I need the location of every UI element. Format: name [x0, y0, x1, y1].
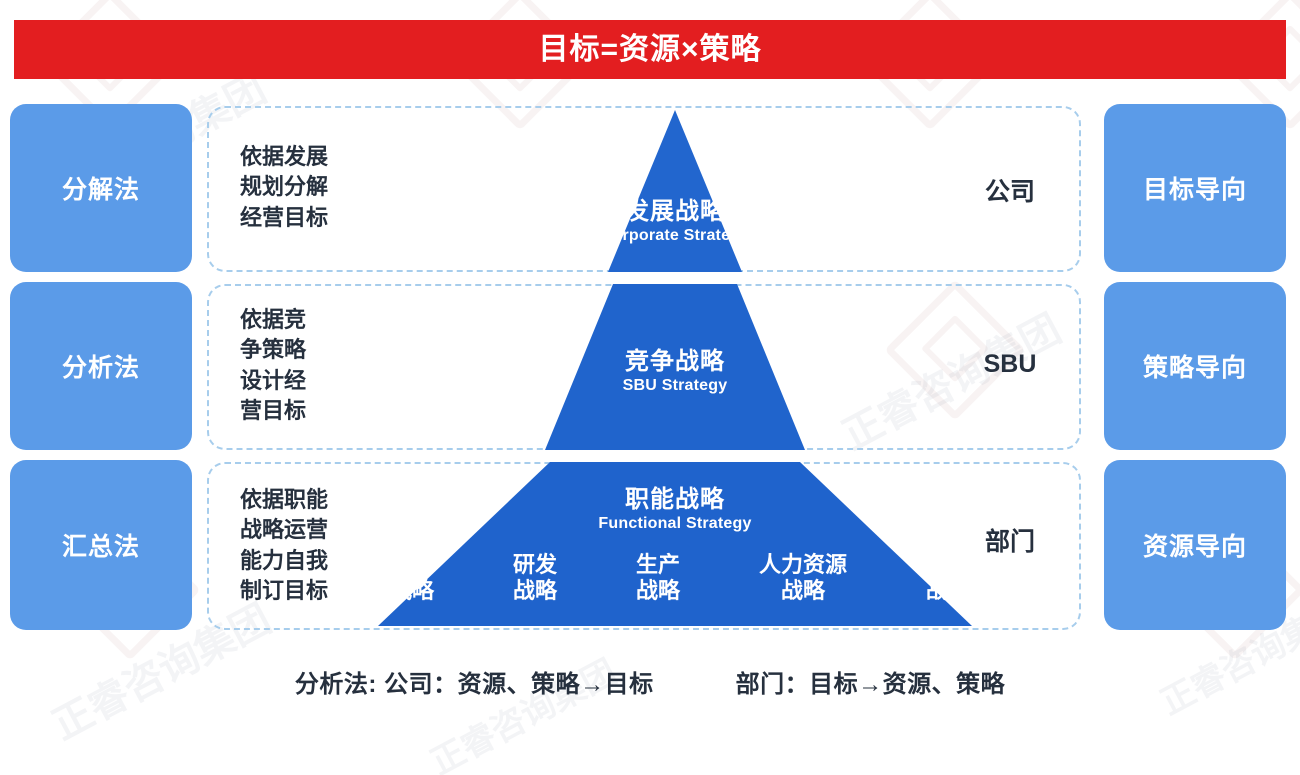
footer-note: 分析法: 公司：资源、策略→目标 部门：目标→资源、策略: [0, 664, 1300, 699]
level-label-company: 公司: [950, 172, 1070, 208]
description-text-2: 依据竞 争策略 设计经 营目标: [240, 305, 400, 426]
tier-title-cn: 竞争战略: [515, 348, 835, 376]
right-orientation-box-3[interactable]: 资源导向: [1104, 460, 1286, 630]
description-text-3: 依据职能 战略运营 能力自我 制订目标: [240, 485, 400, 606]
right-orientation-box-1[interactable]: 目标导向: [1104, 104, 1286, 272]
left-method-box-2[interactable]: 分析法: [10, 282, 192, 450]
functional-strategy-item: 研发 战略: [513, 552, 557, 605]
tier-title-cn: 发展战略: [515, 198, 835, 226]
header-band: 目标=资源×策略: [14, 20, 1286, 79]
left-method-label: 汇总法: [62, 527, 140, 563]
tier-title-en: Corporate Strategy: [515, 226, 835, 247]
right-orientation-label: 资源导向: [1143, 527, 1247, 563]
pyramid-tier-2-text: 竞争战略 SBU Strategy: [515, 348, 835, 396]
slide-canvas: 正睿咨询集团 正睿咨询集团 正睿咨询集团 正睿咨询集团 正睿咨询集团 目标=资源…: [0, 0, 1300, 775]
description-text-1: 依据发展 规划分解 经营目标: [240, 142, 400, 233]
pyramid-tier-3-text: 职能战略 Functional Strategy: [515, 486, 835, 534]
pyramid-tier-1-text: 发展战略 Corporate Strategy: [515, 198, 835, 246]
functional-strategy-row: 营销 战略 研发 战略 生产 战略 人力资源 战略 财务 战略: [390, 552, 970, 605]
tier-title-cn: 职能战略: [515, 486, 835, 514]
right-orientation-box-2[interactable]: 策略导向: [1104, 282, 1286, 450]
footer-note-right: 部门：目标→资源、策略: [736, 664, 1006, 699]
functional-strategy-item: 营销 战略: [390, 552, 434, 605]
functional-strategy-item: 人力资源 战略: [759, 552, 847, 605]
right-orientation-label: 策略导向: [1143, 348, 1247, 384]
tier-title-en: Functional Strategy: [515, 514, 835, 535]
left-method-label: 分析法: [62, 348, 140, 384]
functional-strategy-item: 财务 战略: [926, 552, 970, 605]
footer-note-left: 分析法: 公司：资源、策略→目标: [295, 664, 654, 699]
functional-strategy-item: 生产 战略: [636, 552, 680, 605]
left-method-label: 分解法: [62, 170, 140, 206]
right-orientation-label: 目标导向: [1143, 170, 1247, 206]
left-method-box-1[interactable]: 分解法: [10, 104, 192, 272]
level-label-sbu: SBU: [950, 350, 1070, 379]
page-title: 目标=资源×策略: [538, 35, 761, 65]
left-method-box-3[interactable]: 汇总法: [10, 460, 192, 630]
tier-title-en: SBU Strategy: [515, 376, 835, 397]
